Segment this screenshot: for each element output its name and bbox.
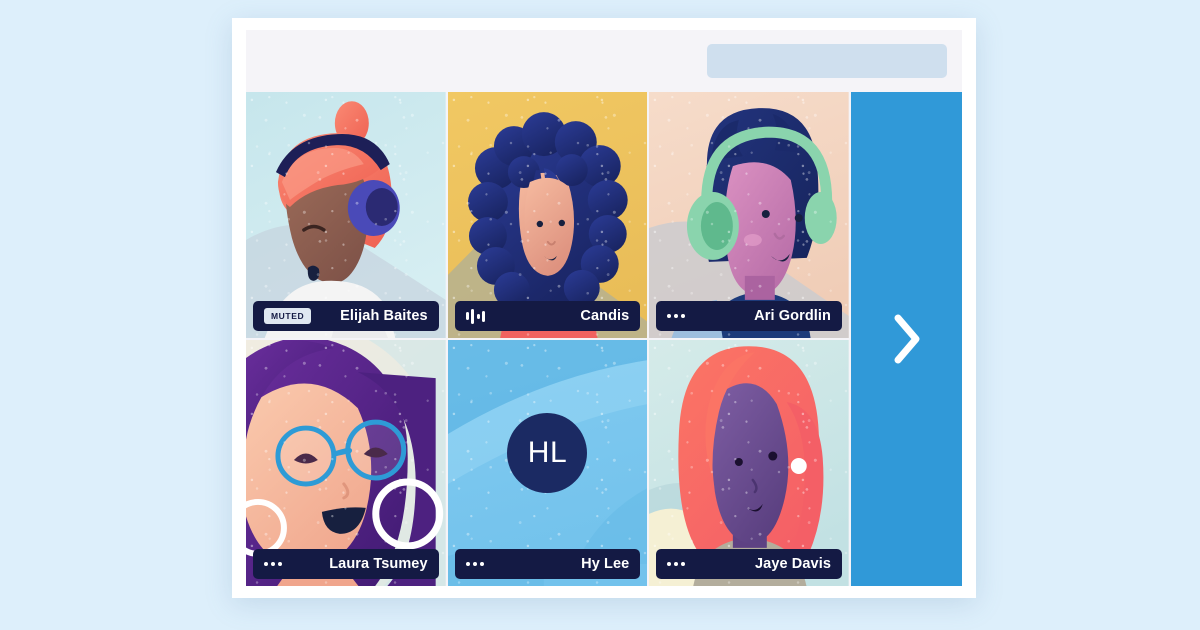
muted-badge[interactable]: MUTED [264,308,311,324]
more-options-icon[interactable] [667,562,685,566]
chevron-right-icon [892,313,922,365]
participant-name: Ari Gordlin [685,308,831,324]
participant-tile[interactable]: Candis [448,92,648,338]
participant-tile[interactable]: Ari Gordlin [649,92,849,338]
more-options-icon[interactable] [466,562,484,566]
more-options-icon[interactable] [264,562,282,566]
participant-name-bar[interactable]: MUTED Elijah Baites [253,301,439,331]
window-inner: MUTED Elijah Baites [246,30,962,586]
waveform-icon [466,308,486,324]
participant-name-bar[interactable]: Jaye Davis [656,549,842,579]
participant-tile[interactable]: Laura Tsumey [246,340,446,586]
participant-name-bar[interactable]: Hy Lee [455,549,641,579]
avatar-initials: HL [507,413,587,493]
participant-name: Hy Lee [484,556,630,572]
participant-tile[interactable]: Jaye Davis [649,340,849,586]
participant-name: Laura Tsumey [282,556,428,572]
participant-tile[interactable]: HL Hy Lee [448,340,648,586]
window-header [246,30,962,92]
participant-name: Elijah Baites [311,308,427,324]
participant-tile[interactable]: MUTED Elijah Baites [246,92,446,338]
participant-name-bar[interactable]: Laura Tsumey [253,549,439,579]
participant-name: Candis [485,308,629,324]
participant-name: Jaye Davis [685,556,831,572]
more-options-icon[interactable] [667,314,685,318]
avatar-initials-text: HL [528,436,567,470]
participant-name-bar[interactable]: Ari Gordlin [656,301,842,331]
participant-name-bar[interactable]: Candis [455,301,641,331]
participant-grid: MUTED Elijah Baites [246,92,849,586]
next-page-button[interactable] [851,92,962,586]
search-input[interactable] [707,44,947,78]
app-window: MUTED Elijah Baites [232,18,976,598]
muted-badge-label: MUTED [264,308,311,324]
video-stage: MUTED Elijah Baites [246,92,962,586]
